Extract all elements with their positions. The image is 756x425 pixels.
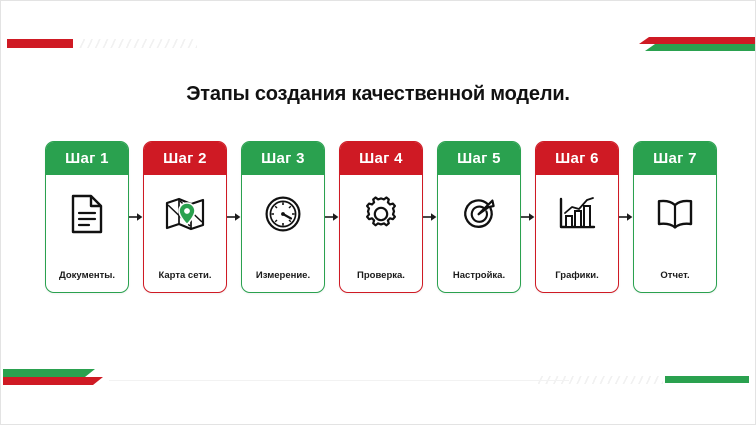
top-left-red-bar <box>7 39 73 48</box>
top-left-hatch-pattern <box>79 39 197 48</box>
step-slot-7: Шаг 7 Отчет. <box>633 141 717 293</box>
arrow-1-to-2 <box>129 141 143 293</box>
step-card-1[interactable]: Шаг 1 Документы. <box>45 141 129 293</box>
step-card-7[interactable]: Шаг 7 Отчет. <box>633 141 717 293</box>
step-header-1: Шаг 1 <box>46 142 128 175</box>
document-icon <box>46 175 128 258</box>
top-right-green-bar <box>645 44 755 51</box>
step-header-2: Шаг 2 <box>144 142 226 175</box>
bottom-left-green-bar <box>3 369 95 377</box>
bottom-right-green-bar <box>665 376 749 383</box>
arrow-4-to-5 <box>423 141 437 293</box>
step-card-6[interactable]: Шаг 6 Графики. <box>535 141 619 293</box>
bar-chart-icon <box>536 175 618 258</box>
arrow-5-to-6 <box>521 141 535 293</box>
step-header-6: Шаг 6 <box>536 142 618 175</box>
open-book-icon <box>634 175 716 258</box>
gear-icon <box>340 175 422 258</box>
step-card-3[interactable]: Шаг 3 <box>241 141 325 293</box>
step-card-2[interactable]: Шаг 2 Карта сети. <box>143 141 227 293</box>
step-label-3: Измерение. <box>242 258 324 292</box>
step-header-3: Шаг 3 <box>242 142 324 175</box>
step-label-1: Документы. <box>46 258 128 292</box>
step-slot-2: Шаг 2 Карта сети. <box>143 141 227 293</box>
gauge-icon <box>242 175 324 258</box>
page-title: Этапы создания качественной модели. <box>1 83 755 106</box>
bottom-left-red-bar <box>3 377 103 385</box>
step-label-2: Карта сети. <box>144 258 226 292</box>
step-slot-5: Шаг 5 Настройка. <box>437 141 521 293</box>
slide-canvas: Этапы создания качественной модели. Шаг … <box>0 0 756 425</box>
arrow-3-to-4 <box>325 141 339 293</box>
step-header-7: Шаг 7 <box>634 142 716 175</box>
map-pin-icon <box>144 175 226 258</box>
step-label-5: Настройка. <box>438 258 520 292</box>
step-label-6: Графики. <box>536 258 618 292</box>
step-label-4: Проверка. <box>340 258 422 292</box>
step-slot-1: Шаг 1 Документы. <box>45 141 129 293</box>
arrow-6-to-7 <box>619 141 633 293</box>
target-dart-icon <box>438 175 520 258</box>
step-slot-4: Шаг 4 Проверка. <box>339 141 423 293</box>
step-label-7: Отчет. <box>634 258 716 292</box>
top-right-red-bar <box>639 37 755 44</box>
step-slot-6: Шаг 6 Графики. <box>535 141 619 293</box>
step-slot-3: Шаг 3 <box>241 141 325 293</box>
step-header-5: Шаг 5 <box>438 142 520 175</box>
step-header-4: Шаг 4 <box>340 142 422 175</box>
step-card-5[interactable]: Шаг 5 Настройка. <box>437 141 521 293</box>
step-sequence: Шаг 1 Документы. <box>45 141 717 293</box>
bottom-hairline-divider <box>109 380 569 381</box>
step-card-4[interactable]: Шаг 4 Проверка. <box>339 141 423 293</box>
arrow-2-to-3 <box>227 141 241 293</box>
